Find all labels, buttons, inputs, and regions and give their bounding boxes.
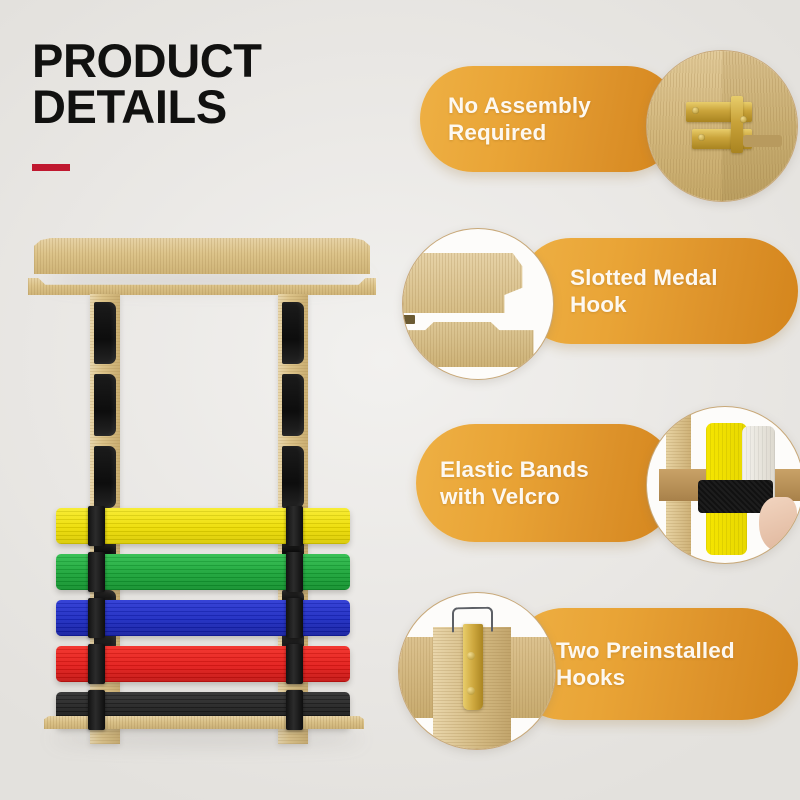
feature-card-no-assembly[interactable]: No Assembly Required (398, 50, 798, 210)
velcro-band-photo (646, 406, 800, 564)
velcro-strap (286, 552, 303, 592)
hinge-screw (692, 107, 699, 114)
velcro-strap (286, 644, 303, 684)
moulding-lower-profile (402, 322, 534, 367)
hinge-slot (743, 135, 782, 147)
velcro-strap (88, 690, 105, 730)
velcro-strap (88, 644, 105, 684)
feature-card-elastic-bands[interactable]: Elastic Bands with Velcro (398, 406, 798, 576)
product-photo-belt-rack (22, 228, 382, 748)
hook-screw (467, 687, 475, 695)
feature-label: Slotted Medal Hook (518, 264, 798, 318)
velcro-strap (88, 598, 105, 638)
heading-block: PRODUCT DETAILS (32, 38, 382, 171)
hand (759, 497, 796, 550)
brass-hinge-photo (646, 50, 798, 202)
feature-card-slotted-medal-hook[interactable]: Slotted Medal Hook (398, 228, 798, 388)
hinge-knuckle (731, 96, 743, 153)
rail-slot (94, 302, 116, 364)
rack-bottom-shadow (52, 732, 362, 745)
moulding-slot (402, 315, 415, 324)
feature-pill: Slotted Medal Hook (518, 238, 798, 344)
rail-slot (282, 374, 304, 436)
velcro-strap (286, 506, 303, 546)
hook-screw (467, 652, 475, 660)
feature-pill: Elastic Bands with Velcro (416, 424, 678, 542)
feature-card-preinstalled-hooks[interactable]: Two Preinstalled Hooks (398, 592, 798, 762)
rail-slot (282, 446, 304, 508)
hinge-screw (698, 134, 705, 141)
moulding-upper-profile (402, 253, 532, 313)
rail-slot (94, 446, 116, 508)
hinge-screw (740, 116, 747, 123)
rack-crown-moulding-top (34, 238, 370, 274)
velcro-strap (88, 506, 105, 546)
velcro-strap (88, 552, 105, 592)
feature-label: Elastic Bands with Velcro (416, 456, 678, 510)
feature-label: No Assembly Required (420, 92, 680, 146)
rail-slot (282, 302, 304, 364)
title-accent-bar (32, 164, 70, 171)
preinstalled-hook-photo (398, 592, 556, 750)
velcro-strap (286, 598, 303, 638)
wood-panel-left (647, 51, 722, 201)
hook-plate (463, 624, 483, 710)
velcro-strap (286, 690, 303, 730)
feature-card-list: No Assembly Required Slotted Medal Hook … (398, 50, 798, 770)
page-title: PRODUCT DETAILS (32, 38, 382, 130)
feature-pill: No Assembly Required (420, 66, 680, 172)
slotted-moulding-photo (402, 228, 554, 380)
rail-slot (94, 374, 116, 436)
